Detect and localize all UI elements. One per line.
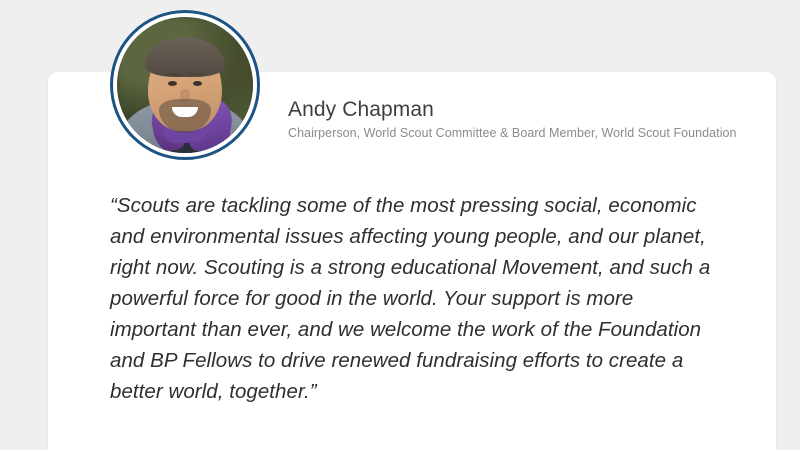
eye-left-shape	[168, 81, 177, 86]
avatar	[110, 10, 260, 160]
eyebrow-left-shape	[165, 73, 181, 76]
testimonial-quote: “Scouts are tackling some of the most pr…	[110, 190, 714, 407]
person-role: Chairperson, World Scout Committee & Boa…	[288, 126, 737, 141]
person-identity: Andy Chapman Chairperson, World Scout Co…	[288, 98, 737, 141]
eyebrow-right-shape	[189, 73, 205, 76]
testimonial-page: Andy Chapman Chairperson, World Scout Co…	[0, 0, 800, 450]
avatar-photo	[117, 17, 253, 153]
person-name: Andy Chapman	[288, 98, 737, 122]
eye-right-shape	[193, 81, 202, 86]
